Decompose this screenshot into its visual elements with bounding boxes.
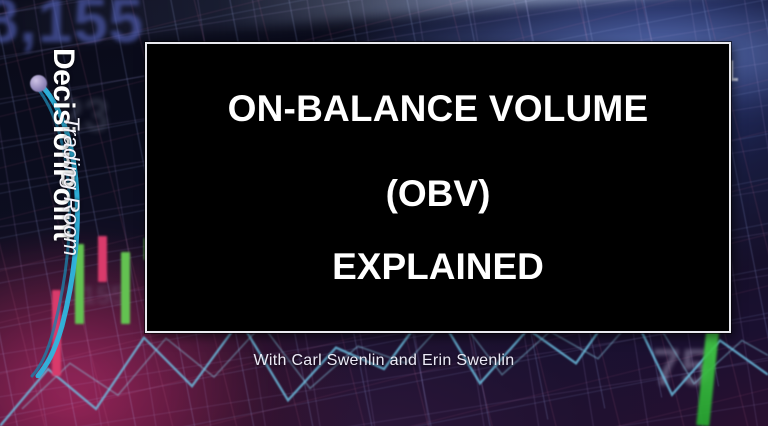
logo-dot-icon: [30, 75, 47, 92]
logo-tagline-text: Trading Room: [58, 116, 84, 346]
candlestick-bar: [121, 252, 130, 324]
title-line-explained: EXPLAINED: [332, 248, 544, 285]
title-line-abbreviation: (OBV): [386, 175, 491, 212]
title-line-primary: ON-BALANCE VOLUME: [228, 90, 649, 127]
video-thumbnail: 8,155 23 3,155 75 1 DecisionPoint Tradin…: [0, 0, 768, 426]
decisionpoint-logo: DecisionPoint Trading Room: [4, 58, 114, 378]
title-card: ON-BALANCE VOLUME (OBV) EXPLAINED: [145, 42, 731, 333]
presenters-credit: With Carl Swenlin and Erin Swenlin: [0, 352, 768, 370]
